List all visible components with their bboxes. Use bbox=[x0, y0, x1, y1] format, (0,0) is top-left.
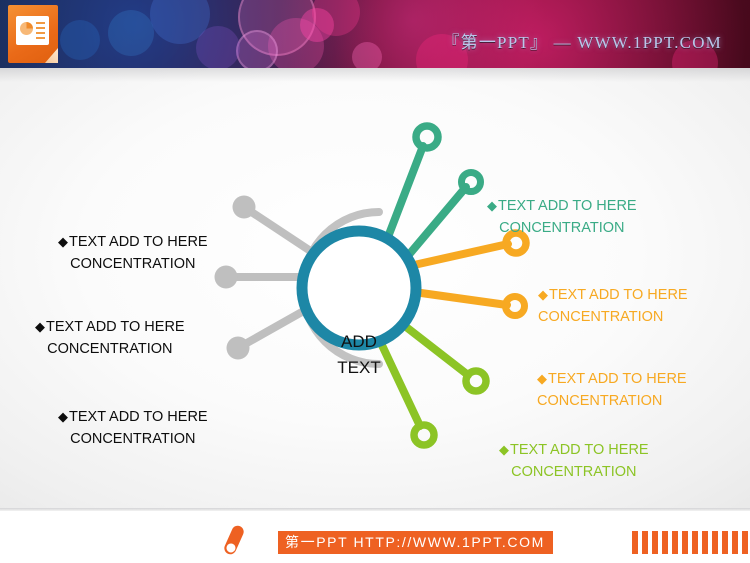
diamond-bullet-icon: ◆ bbox=[538, 287, 548, 302]
label-line2: CONCENTRATION bbox=[35, 338, 185, 360]
label-line1: TEXT ADD TO HERE bbox=[46, 319, 185, 335]
branch-ring-marker[interactable] bbox=[462, 173, 481, 192]
label-line2: CONCENTRATION bbox=[499, 461, 649, 483]
center-label: ADD TEXT bbox=[309, 329, 409, 381]
branch-left-1[interactable] bbox=[233, 196, 319, 257]
branch-left-2[interactable] bbox=[215, 266, 303, 289]
footer-divider bbox=[0, 508, 750, 511]
branch-line bbox=[244, 207, 318, 256]
bokeh-circle bbox=[60, 20, 100, 60]
branch-ring-marker[interactable] bbox=[416, 126, 438, 148]
slide-body: ADD TEXT ◆TEXT ADD TO HERE CONCENTRATION… bbox=[0, 68, 750, 508]
branch-line bbox=[414, 292, 507, 305]
footer-url-band[interactable]: 第一PPT HTTP://WWW.1PPT.COM bbox=[278, 531, 553, 554]
label-line1: TEXT ADD TO HERE bbox=[69, 409, 208, 425]
bokeh-circle bbox=[238, 0, 316, 56]
bokeh-circle bbox=[268, 18, 324, 68]
branch-dot-marker[interactable] bbox=[227, 337, 250, 360]
capsule-icon bbox=[222, 524, 245, 556]
label-right-2[interactable]: ◆TEXT ADD TO HERE CONCENTRATION bbox=[538, 284, 688, 328]
branch-ring-marker[interactable] bbox=[414, 425, 434, 445]
bokeh-circle bbox=[352, 42, 382, 68]
label-line2: CONCENTRATION bbox=[537, 390, 687, 412]
powerpoint-logo-icon bbox=[8, 5, 58, 63]
label-line1: TEXT ADD TO HERE bbox=[510, 442, 649, 458]
footer-bar: 第一PPT HTTP://WWW.1PPT.COM bbox=[0, 508, 750, 563]
label-right-1[interactable]: ◆TEXT ADD TO HERE CONCENTRATION bbox=[487, 195, 637, 239]
bokeh-circle bbox=[150, 0, 210, 44]
header-title: 『第一PPT』 — WWW.1PPT.COM bbox=[442, 28, 722, 53]
label-right-4[interactable]: ◆TEXT ADD TO HERE CONCENTRATION bbox=[499, 439, 649, 483]
bokeh-circle bbox=[236, 30, 278, 68]
bokeh-circle bbox=[312, 0, 360, 36]
bokeh-circle bbox=[108, 10, 154, 56]
branch-line bbox=[414, 244, 508, 265]
slide-canvas: 『第一PPT』 — WWW.1PPT.COM bbox=[0, 0, 750, 563]
label-left-1[interactable]: ◆TEXT ADD TO HERE CONCENTRATION bbox=[58, 231, 208, 275]
bokeh-circle bbox=[196, 26, 240, 68]
barcode-stripes-icon bbox=[632, 531, 750, 554]
label-line1: TEXT ADD TO HERE bbox=[549, 287, 688, 303]
label-line1: TEXT ADD TO HERE bbox=[548, 371, 687, 387]
diamond-bullet-icon: ◆ bbox=[499, 442, 509, 457]
bokeh-circle bbox=[300, 8, 334, 42]
label-line2: CONCENTRATION bbox=[58, 253, 208, 275]
branch-ring-marker[interactable] bbox=[506, 297, 525, 316]
diamond-bullet-icon: ◆ bbox=[58, 409, 68, 424]
label-line2: CONCENTRATION bbox=[538, 306, 688, 328]
header-banner: 『第一PPT』 — WWW.1PPT.COM bbox=[0, 0, 750, 68]
center-label-line2: TEXT bbox=[309, 355, 409, 381]
branch-right-4[interactable] bbox=[414, 292, 525, 316]
diamond-bullet-icon: ◆ bbox=[58, 234, 68, 249]
diamond-bullet-icon: ◆ bbox=[537, 371, 547, 386]
label-line1: TEXT ADD TO HERE bbox=[69, 234, 208, 250]
label-left-3[interactable]: ◆TEXT ADD TO HERE CONCENTRATION bbox=[58, 406, 208, 450]
branch-dot-marker[interactable] bbox=[215, 266, 238, 289]
center-circle[interactable] bbox=[302, 231, 416, 345]
label-left-2[interactable]: ◆TEXT ADD TO HERE CONCENTRATION bbox=[35, 316, 185, 360]
branch-ring-marker[interactable] bbox=[466, 371, 486, 391]
center-label-line1: ADD bbox=[309, 329, 409, 355]
diamond-bullet-icon: ◆ bbox=[35, 319, 45, 334]
branch-dot-marker[interactable] bbox=[233, 196, 256, 219]
label-line2: CONCENTRATION bbox=[58, 428, 208, 450]
label-line2: CONCENTRATION bbox=[487, 217, 637, 239]
diamond-bullet-icon: ◆ bbox=[487, 198, 497, 213]
label-line1: TEXT ADD TO HERE bbox=[498, 198, 637, 214]
label-right-3[interactable]: ◆TEXT ADD TO HERE CONCENTRATION bbox=[537, 368, 687, 412]
